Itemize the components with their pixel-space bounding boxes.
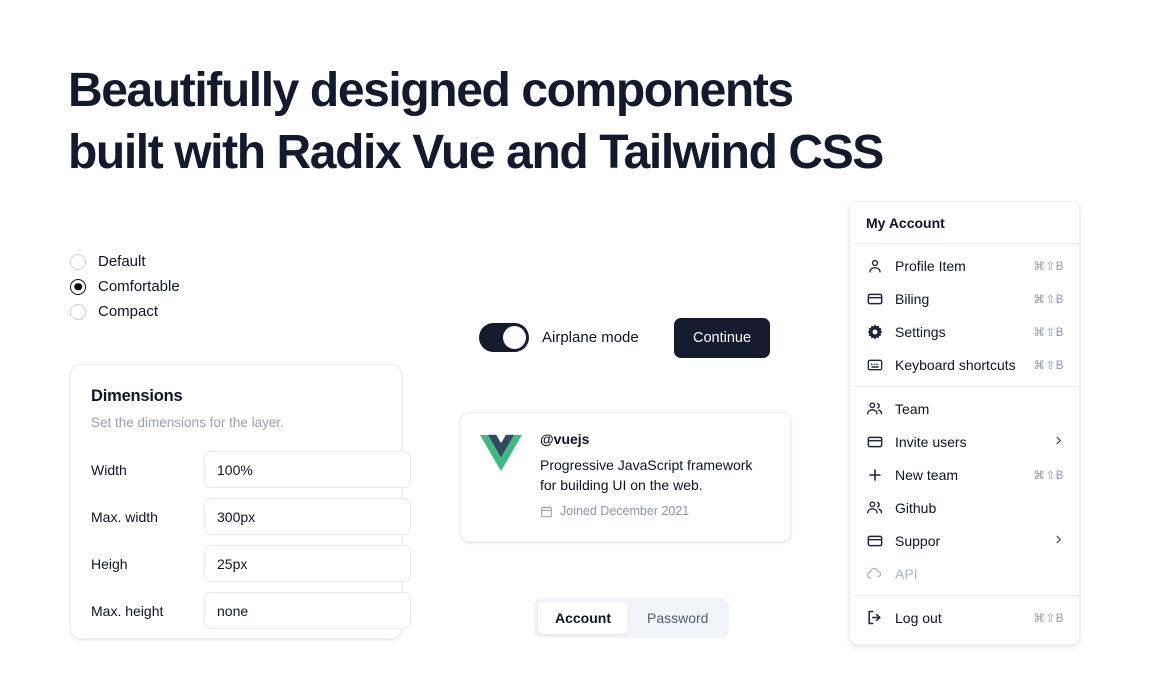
menu-item-label: API — [895, 566, 1064, 582]
users-icon — [866, 499, 883, 516]
menu-item-profile[interactable]: Profile Item ⌘⇧B — [850, 249, 1079, 282]
menu-item-label: Keyboard shortcuts — [895, 357, 1033, 373]
dimensions-field-row: Width — [91, 446, 381, 493]
menu-item-shortcut: ⌘⇧B — [1033, 325, 1064, 339]
menu-item-new-team[interactable]: New team ⌘⇧B — [850, 458, 1079, 491]
radio-option-comfortable[interactable]: Comfortable — [70, 274, 180, 299]
menu-item-keyboard-shortcuts[interactable]: Keyboard shortcuts ⌘⇧B — [850, 348, 1079, 381]
radio-circle-filled-icon — [70, 279, 86, 295]
credit-card-icon — [866, 433, 883, 450]
dimensions-card-title: Dimensions — [91, 387, 381, 406]
airplane-mode-switch[interactable] — [479, 323, 529, 352]
menu-item-log-out[interactable]: Log out ⌘⇧B — [850, 601, 1079, 634]
width-input[interactable] — [204, 451, 411, 488]
switch-thumb — [503, 326, 526, 349]
height-input[interactable] — [204, 545, 411, 582]
vue-joined-text: Joined December 2021 — [560, 504, 689, 518]
radio-option-compact[interactable]: Compact — [70, 299, 180, 324]
radio-circle-icon — [70, 254, 86, 270]
radio-label: Compact — [98, 304, 158, 319]
continue-button[interactable]: Continue — [674, 318, 770, 358]
dimensions-field-row: Max. height — [91, 587, 381, 634]
menu-group-team: Team Invite users New team — [850, 387, 1079, 595]
dimensions-card-subtitle: Set the dimensions for the layer. — [91, 415, 381, 430]
calendar-icon — [540, 505, 553, 518]
dimensions-field-list: Width Max. width Heigh Max. height — [91, 446, 381, 634]
vue-logo-icon — [480, 434, 522, 472]
menu-item-shortcut: ⌘⇧B — [1033, 468, 1064, 482]
credit-card-icon — [866, 290, 883, 307]
menu-item-label: Settings — [895, 324, 1033, 340]
dimensions-field-row: Max. width — [91, 493, 381, 540]
vue-handle: @vuejs — [540, 431, 772, 447]
radio-label: Default — [98, 254, 146, 269]
page-title-line-2: built with Radix Vue and Tailwind CSS — [68, 122, 1028, 184]
radio-label: Comfortable — [98, 279, 180, 294]
menu-group-logout: Log out ⌘⇧B — [850, 596, 1079, 639]
keyboard-icon — [866, 356, 883, 373]
radio-option-default[interactable]: Default — [70, 249, 180, 274]
plus-icon — [866, 466, 883, 483]
menu-item-label: Profile Item — [895, 258, 1033, 274]
vue-description: Progressive JavaScript framework for bui… — [540, 455, 772, 495]
page-root: Beautifully designed components built wi… — [0, 0, 1152, 700]
max-height-input[interactable] — [204, 592, 411, 629]
menu-item-shortcut: ⌘⇧B — [1033, 611, 1064, 625]
vue-hover-card: @vuejs Progressive JavaScript framework … — [460, 412, 791, 542]
airplane-mode-label: Airplane mode — [542, 329, 639, 346]
account-dropdown-menu: My Account Profile Item ⌘⇧B Biling — [849, 201, 1080, 645]
menu-item-support[interactable]: Suppor — [850, 524, 1079, 557]
height-label: Heigh — [91, 556, 204, 572]
users-icon — [866, 400, 883, 417]
airplane-mode-switch-group: Airplane mode — [479, 323, 639, 352]
menu-header-label: My Account — [850, 202, 1079, 243]
page-title-line-1: Beautifully designed components — [68, 60, 1028, 122]
menu-item-label: Team — [895, 401, 1064, 417]
menu-item-label: New team — [895, 467, 1033, 483]
dimensions-field-row: Heigh — [91, 540, 381, 587]
credit-card-icon — [866, 532, 883, 549]
menu-item-shortcut: ⌘⇧B — [1033, 358, 1064, 372]
menu-item-settings[interactable]: Settings ⌘⇧B — [850, 315, 1079, 348]
page-title: Beautifully designed components built wi… — [68, 60, 1028, 184]
menu-item-shortcut: ⌘⇧B — [1033, 259, 1064, 273]
radio-circle-icon — [70, 304, 86, 320]
menu-item-shortcut: ⌘⇧B — [1033, 292, 1064, 306]
max-width-input[interactable] — [204, 498, 411, 535]
tab-password[interactable]: Password — [630, 602, 725, 634]
menu-item-label: Biling — [895, 291, 1033, 307]
menu-item-github[interactable]: Github — [850, 491, 1079, 524]
width-label: Width — [91, 462, 204, 478]
max-width-label: Max. width — [91, 509, 204, 525]
max-height-label: Max. height — [91, 603, 204, 619]
menu-item-label: Github — [895, 500, 1064, 516]
menu-item-label: Suppor — [895, 533, 1053, 549]
vue-joined-row: Joined December 2021 — [540, 504, 772, 518]
menu-item-invite-users[interactable]: Invite users — [850, 425, 1079, 458]
vue-hover-card-body: @vuejs Progressive JavaScript framework … — [540, 431, 772, 541]
menu-item-api: API — [850, 557, 1079, 590]
menu-group-account: Profile Item ⌘⇧B Biling ⌘⇧B — [850, 244, 1079, 386]
menu-item-team[interactable]: Team — [850, 392, 1079, 425]
user-icon — [866, 257, 883, 274]
cloud-icon — [866, 565, 883, 582]
menu-item-label: Invite users — [895, 434, 1053, 450]
tab-list: Account Password — [534, 598, 729, 638]
menu-item-label: Log out — [895, 610, 1033, 626]
chevron-right-icon — [1053, 534, 1064, 547]
menu-item-billing[interactable]: Biling ⌘⇧B — [850, 282, 1079, 315]
logout-icon — [866, 609, 883, 626]
dimensions-card: Dimensions Set the dimensions for the la… — [70, 364, 402, 639]
tab-account[interactable]: Account — [538, 602, 628, 634]
chevron-right-icon — [1053, 435, 1064, 448]
gear-icon — [866, 323, 883, 340]
radio-group: Default Comfortable Compact — [70, 249, 180, 324]
